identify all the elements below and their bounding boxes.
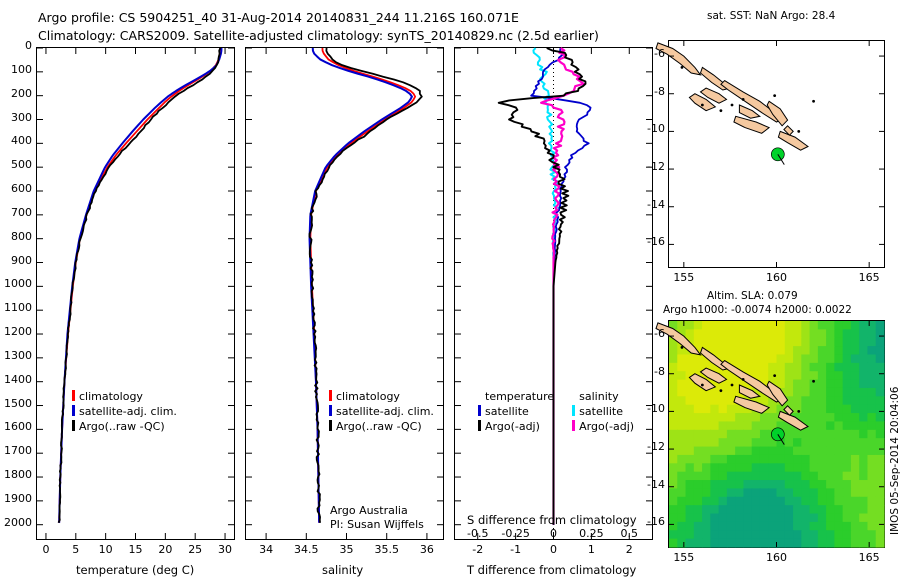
sla-map-title-line2: Argo h1000: -0.0074 h2000: 0.0022 bbox=[663, 304, 852, 316]
legend-swatch-climatology bbox=[329, 390, 332, 401]
axis-tick-label: 10 bbox=[99, 543, 113, 556]
axis-tick-label: -0.5 bbox=[467, 527, 488, 540]
axis-tick-label: 165 bbox=[859, 271, 880, 284]
axis-tick-label: 155 bbox=[673, 551, 694, 564]
axis-tick-label: -2 bbox=[472, 543, 483, 556]
axis-tick-label: 160 bbox=[766, 551, 787, 564]
panel-temperature bbox=[36, 47, 235, 540]
credit-pi: PI: Susan Wijffels bbox=[330, 518, 424, 531]
axis-tick-label: 100 bbox=[11, 63, 32, 76]
axis-tick-label: 0.25 bbox=[579, 527, 604, 540]
panel-salinity-legend: climatology satellite-adj. clim. Argo(..… bbox=[329, 390, 434, 433]
axis-tick-label: 2 bbox=[626, 543, 633, 556]
legend-label-temp-argo: Argo(-adj) bbox=[485, 420, 540, 433]
axis-tick-label: 2000 bbox=[4, 516, 32, 529]
legend-label-argo: Argo(..raw -QC) bbox=[336, 420, 422, 433]
axis-label-temperature: temperature (deg C) bbox=[76, 563, 194, 577]
axis-tick-label: 36 bbox=[420, 543, 434, 556]
axis-tick-label: 25 bbox=[188, 543, 202, 556]
legend-label-satellite-adj: satellite-adj. clim. bbox=[79, 405, 177, 418]
legend-swatch-satellite-adj bbox=[329, 405, 332, 416]
axis-tick-label: 160 bbox=[766, 271, 787, 284]
axis-tick-label: 1000 bbox=[4, 277, 32, 290]
sla-map bbox=[668, 320, 885, 548]
axis-tick-label: 900 bbox=[11, 254, 32, 267]
axis-tick-label: 200 bbox=[11, 87, 32, 100]
axis-tick-label: -1 bbox=[510, 543, 521, 556]
axis-tick-label: -0.25 bbox=[501, 527, 529, 540]
panel-temperature-legend: climatology satellite-adj. clim. Argo(..… bbox=[72, 390, 177, 433]
axis-tick-label: 30 bbox=[218, 543, 232, 556]
legend-swatch-salt-satellite bbox=[572, 405, 575, 416]
axis-tick-label: -10 bbox=[647, 122, 665, 135]
axis-tick-label: 700 bbox=[11, 206, 32, 219]
axis-tick-label: -6 bbox=[654, 47, 665, 60]
axis-tick-label: -12 bbox=[647, 440, 665, 453]
axis-tick-label: -8 bbox=[654, 85, 665, 98]
axis-tick-label: 165 bbox=[859, 551, 880, 564]
legend-header-salinity: salinity bbox=[572, 390, 634, 403]
axis-tick-label: 1800 bbox=[4, 468, 32, 481]
panel-difference-legend: temperature satellite Argo(-adj) salinit… bbox=[478, 390, 634, 433]
axis-tick-label: 35 bbox=[340, 543, 354, 556]
axis-tick-label: 800 bbox=[11, 230, 32, 243]
axis-tick-label: 1200 bbox=[4, 325, 32, 338]
axis-tick-label: 34.5 bbox=[294, 543, 319, 556]
credit-org: Argo Australia bbox=[330, 504, 408, 517]
axis-tick-label: 1100 bbox=[4, 301, 32, 314]
legend-label-salt-satellite: satellite bbox=[579, 405, 623, 418]
legend-swatch-climatology bbox=[72, 390, 75, 401]
axis-tick-label: -6 bbox=[654, 327, 665, 340]
axis-label-salinity: salinity bbox=[322, 563, 363, 577]
legend-swatch-temp-argo bbox=[478, 420, 481, 431]
axis-tick-label: -16 bbox=[647, 515, 665, 528]
legend-swatch-temp-satellite bbox=[478, 405, 481, 416]
legend-label-satellite-adj: satellite-adj. clim. bbox=[336, 405, 434, 418]
legend-label-salt-argo: Argo(-adj) bbox=[579, 420, 634, 433]
axis-tick-label: 15 bbox=[129, 543, 143, 556]
page-title-line1: Argo profile: CS 5904251_40 31-Aug-2014 … bbox=[38, 10, 519, 25]
sst-map-title: sat. SST: NaN Argo: 28.4 bbox=[707, 10, 835, 22]
sla-map-title-line1: Altim. SLA: 0.079 bbox=[707, 290, 798, 302]
axis-tick-label: 5 bbox=[72, 543, 79, 556]
axis-tick-label: 1700 bbox=[4, 444, 32, 457]
axis-tick-label: 300 bbox=[11, 111, 32, 124]
axis-tick-label: -8 bbox=[654, 365, 665, 378]
legend-swatch-satellite-adj bbox=[72, 405, 75, 416]
axis-tick-label: 500 bbox=[11, 158, 32, 171]
axis-tick-label: 1 bbox=[588, 543, 595, 556]
legend-swatch-argo bbox=[72, 420, 75, 431]
axis-tick-label: 34 bbox=[259, 543, 273, 556]
axis-tick-label: 0 bbox=[550, 527, 557, 540]
axis-tick-label: -16 bbox=[647, 235, 665, 248]
axis-tick-label: 1900 bbox=[4, 492, 32, 505]
panel-salinity bbox=[245, 47, 444, 540]
panel-difference bbox=[454, 47, 653, 540]
axis-tick-label: 400 bbox=[11, 134, 32, 147]
axis-tick-label: 1500 bbox=[4, 397, 32, 410]
axis-tick-label: -10 bbox=[647, 402, 665, 415]
axis-tick-label: 155 bbox=[673, 271, 694, 284]
axis-tick-label: 600 bbox=[11, 182, 32, 195]
imos-timestamp: IMOS 05-Sep-2014 20:04:06 bbox=[889, 387, 900, 535]
axis-tick-label: 0 bbox=[550, 543, 557, 556]
legend-label-temp-satellite: satellite bbox=[485, 405, 529, 418]
axis-tick-label: 1600 bbox=[4, 420, 32, 433]
axis-tick-label: 0 bbox=[25, 39, 32, 52]
legend-label-climatology: climatology bbox=[79, 390, 143, 403]
legend-label-argo: Argo(..raw -QC) bbox=[79, 420, 165, 433]
legend-label-climatology: climatology bbox=[336, 390, 400, 403]
legend-header-temperature: temperature bbox=[478, 390, 554, 403]
axis-label-t-difference: T difference from climatology bbox=[467, 563, 636, 577]
legend-swatch-salt-argo bbox=[572, 420, 575, 431]
legend-swatch-argo bbox=[329, 420, 332, 431]
page-title-line2: Climatology: CARS2009. Satellite-adjuste… bbox=[38, 28, 599, 43]
axis-tick-label: 1300 bbox=[4, 349, 32, 362]
axis-tick-label: -14 bbox=[647, 478, 665, 491]
axis-tick-label: -14 bbox=[647, 198, 665, 211]
axis-tick-label: 20 bbox=[158, 543, 172, 556]
axis-tick-label: -12 bbox=[647, 160, 665, 173]
axis-tick-label: 0 bbox=[42, 543, 49, 556]
sst-map bbox=[668, 40, 885, 268]
axis-tick-label: 35.5 bbox=[374, 543, 399, 556]
axis-tick-label: 1400 bbox=[4, 373, 32, 386]
axis-tick-label: 0.5 bbox=[621, 527, 639, 540]
axis-label-s-difference: S difference from climatology bbox=[467, 513, 637, 527]
